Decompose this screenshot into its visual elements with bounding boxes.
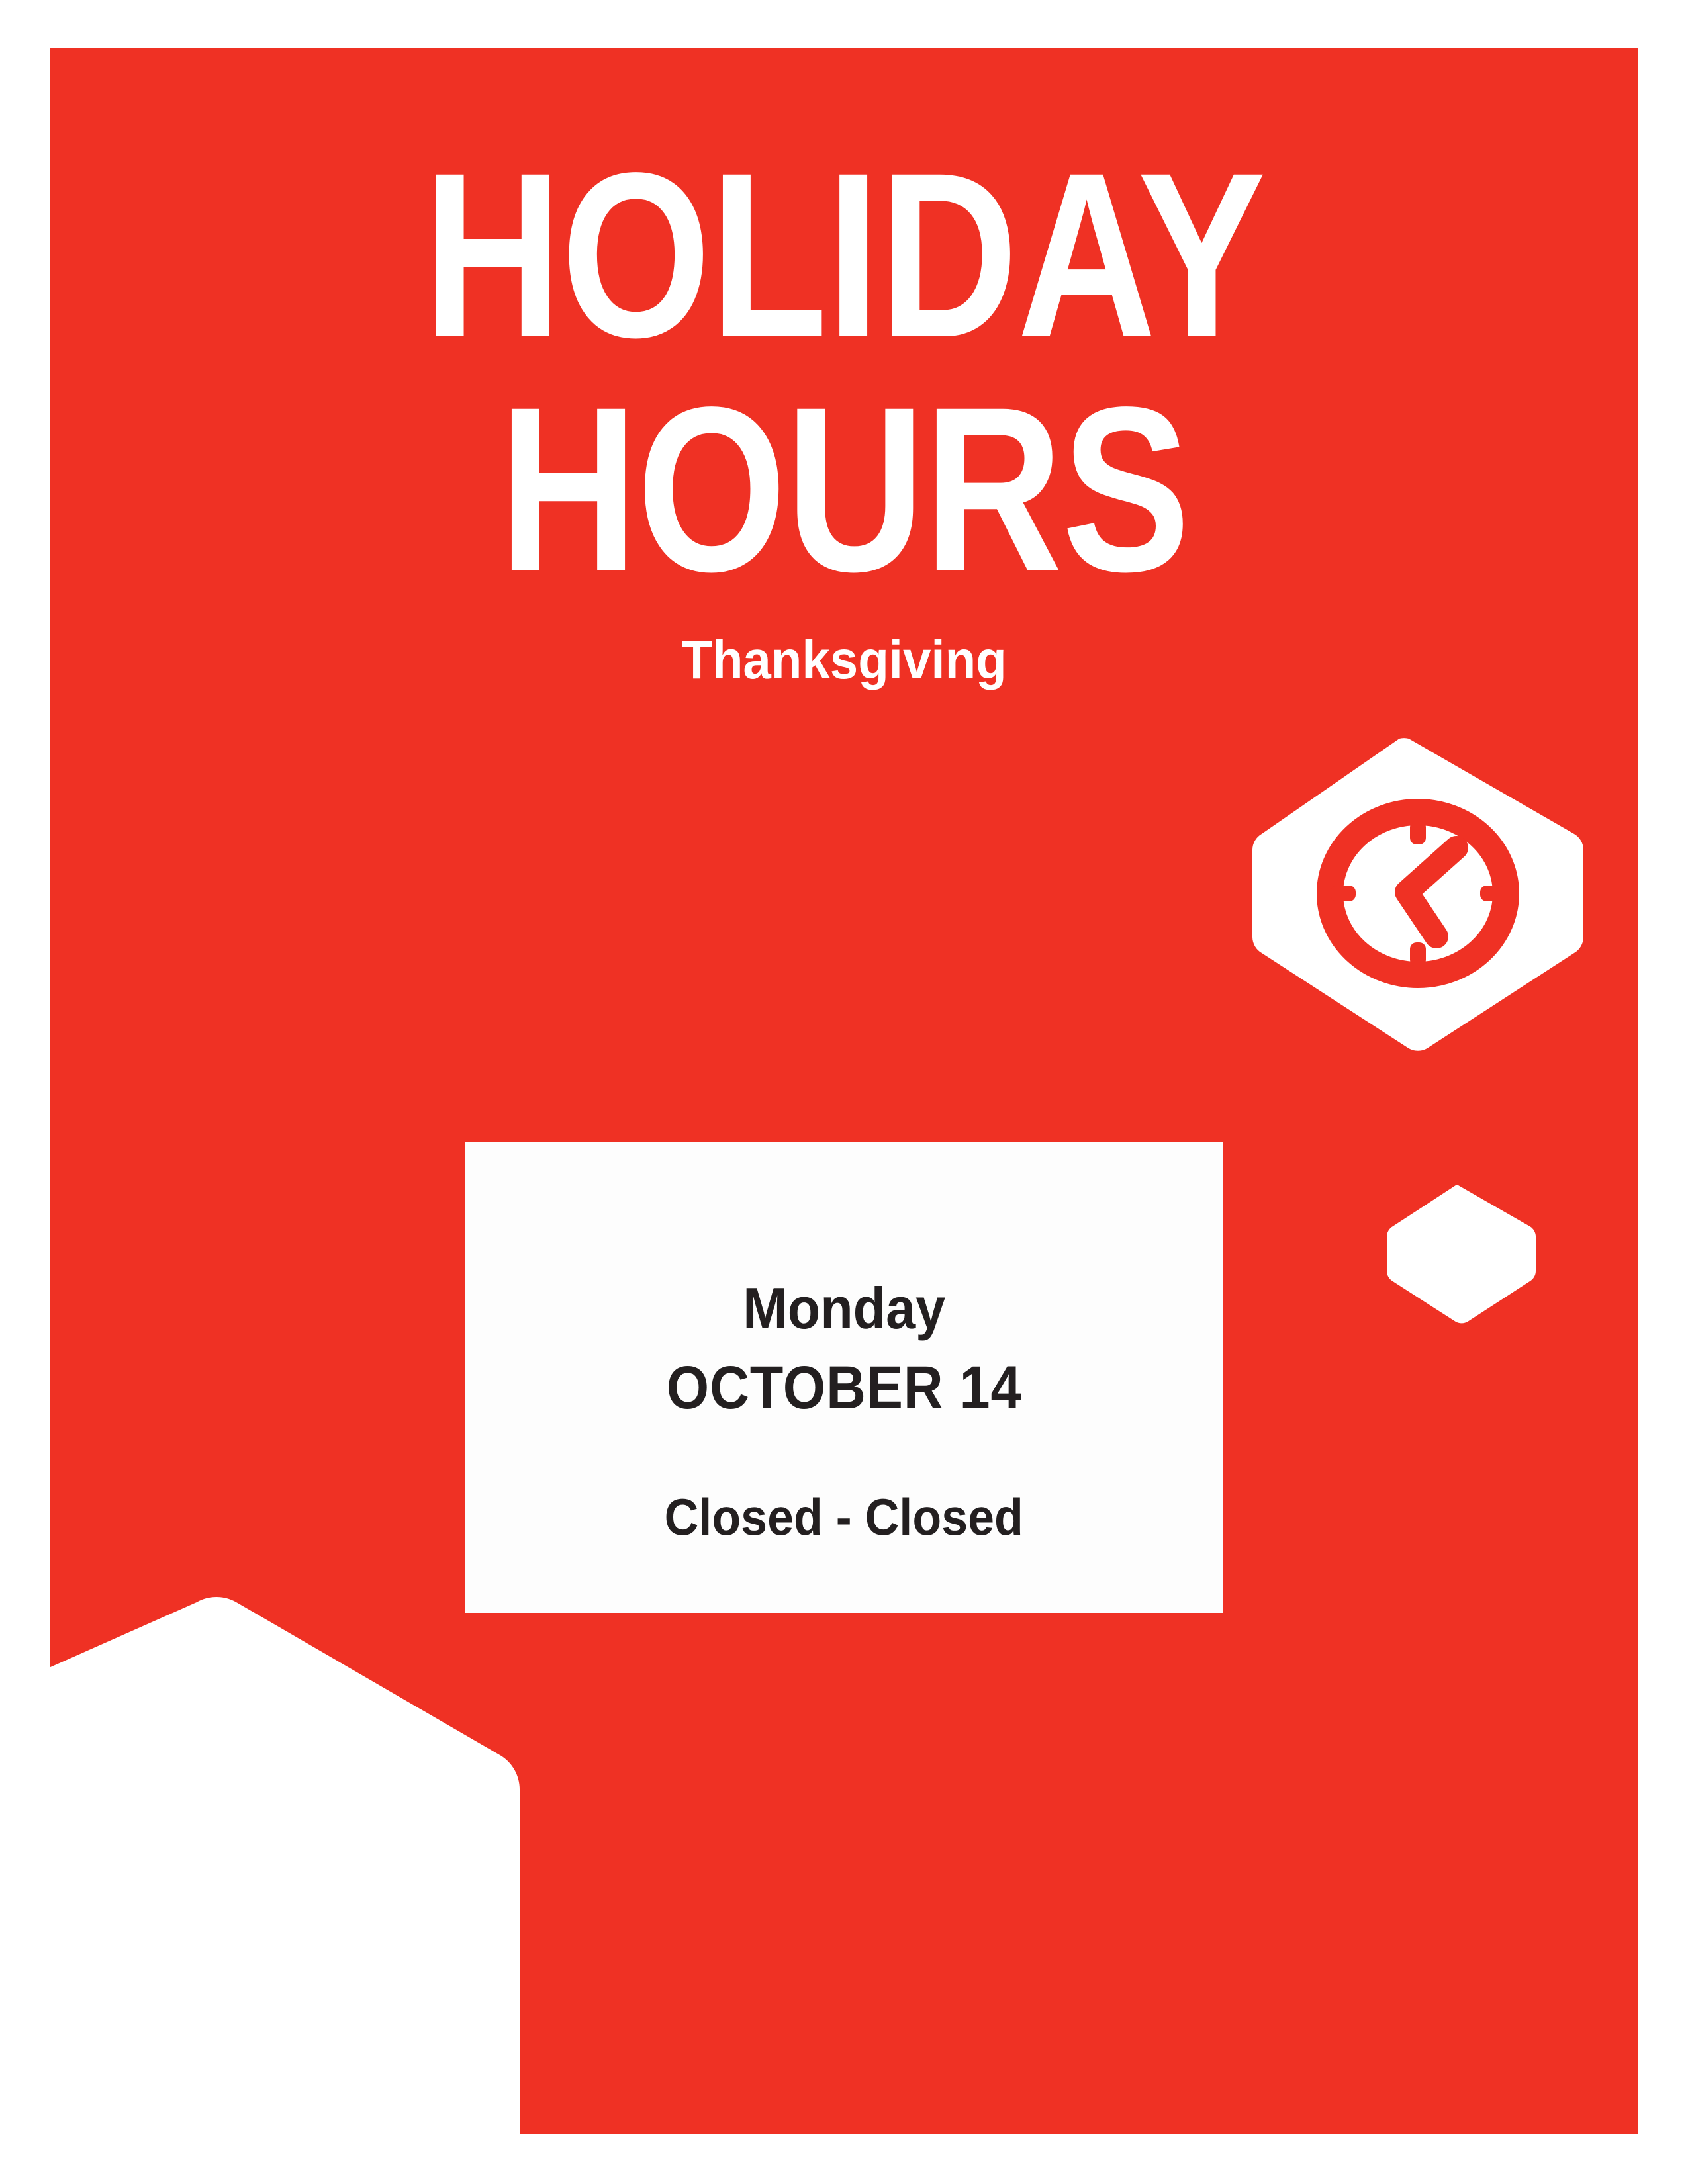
page-title-line-1: HOLIDAY <box>193 141 1495 371</box>
holiday-hours-poster: HOLIDAY HOURS Thanksgiving <box>0 0 1688 2184</box>
card-date-label: OCTOBER 14 <box>667 1357 1022 1418</box>
clock-hexagon-icon <box>1246 735 1590 1052</box>
page-subtitle: Thanksgiving <box>105 632 1583 689</box>
holiday-info-card: Monday OCTOBER 14 Closed - Closed <box>465 1142 1223 1613</box>
red-background-panel: HOLIDAY HOURS Thanksgiving <box>50 48 1638 2134</box>
hexagon-corner-icon <box>50 1508 520 2134</box>
hexagon-accent-icon <box>1387 1183 1539 1324</box>
card-hours-label: Closed - Closed <box>665 1491 1023 1543</box>
page-title-line-2: HOURS <box>193 375 1495 606</box>
card-day-label: Monday <box>743 1279 945 1338</box>
headline-block: HOLIDAY HOURS Thanksgiving <box>50 141 1638 689</box>
